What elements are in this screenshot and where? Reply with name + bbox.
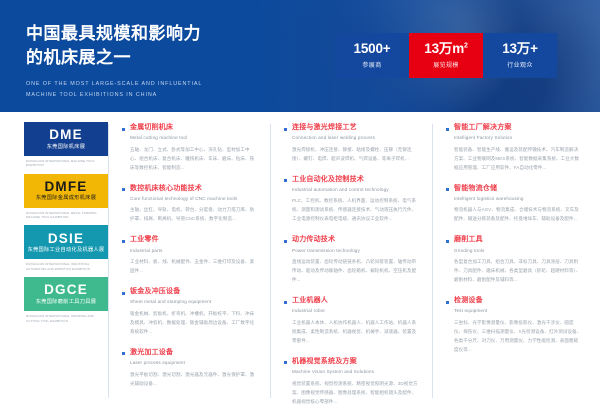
square-bullet-icon <box>446 188 449 191</box>
square-bullet-icon <box>122 240 125 243</box>
square-bullet-icon <box>446 240 449 243</box>
category-description: 各型复合加工刀具、组合刀具、非标刀具、刀具涂层、刀具附件、刀具配件、磨床机械、各… <box>454 257 582 284</box>
logo-abbreviation: DSIE <box>48 232 84 246</box>
logo-badge: DME东莞国际机床展 <box>24 122 108 156</box>
category-description: 视觉装置系统、视觉检测系统、精密视觉照明光源、3D视觉方案、图像视觉传感器、图像… <box>292 379 420 406</box>
stat-value: 13万+ <box>502 42 538 56</box>
category-item[interactable]: 连接与激光焊接工艺Connection and laser welding pr… <box>284 124 420 163</box>
category-item[interactable]: 动力传动技术Power transmission technology直线运动装… <box>284 236 420 284</box>
category-description: 五轴、龙门、立式、卧式等加工中心、深孔钻、型材加工中心、组合机床、复合机床、雕铣… <box>130 145 258 172</box>
logo-english-name: DONGGUAN INTERNATIONAL METAL FORMING MAC… <box>24 211 108 220</box>
category-title-en: Industrial automation and control techno… <box>292 187 420 193</box>
category-item[interactable]: 钣金及冲压设备Sheet metal and stamping equipmen… <box>122 288 258 336</box>
logo-abbreviation: DME <box>49 128 83 142</box>
category-title-cn: 机器视觉系统及方案 <box>292 358 420 367</box>
category-description: 主轴、丝杠、导轨、电机、转台、分度盘、动力刀塔刀库、防护罩、排屑、断屑机、导管C… <box>130 205 258 223</box>
category-title-en: Intelligent Factory Solution <box>454 135 582 141</box>
logo-card-dsie[interactable]: DSIE东莞国际工业自动化及机器人展DONGGUAN INTERNATIONAL… <box>24 225 108 271</box>
logo-chinese-name: 东莞国际金属成形机床展 <box>36 196 96 201</box>
stat-label: 展览规模 <box>433 60 459 69</box>
category-title-en: Test equipment <box>454 308 582 314</box>
logo-abbreviation: DGCE <box>44 283 88 297</box>
category-column-2: 连接与激光焊接工艺Connection and laser welding pr… <box>270 120 432 416</box>
category-title-cn: 工业机器人 <box>292 297 420 306</box>
category-column-3: 智能工厂解决方案Intelligent Factory Solution智能装备… <box>432 120 594 416</box>
statistics-row: 1500+参展商13万m2展览规模13万+行业观众 <box>335 33 557 78</box>
stat-label: 参展商 <box>362 60 381 69</box>
category-title-cn: 钣金及冲压设备 <box>130 288 258 297</box>
logo-english-name: DONGGUAN INTERNATIONAL MACHINE TOOL EXHI… <box>24 159 108 168</box>
category-title-en: Intelligent logistics warehousing <box>454 196 582 202</box>
logo-chinese-name: 东莞国际磨削工具刀具展 <box>36 300 96 305</box>
square-bullet-icon <box>122 188 125 191</box>
hero-banner: 中国最具规模和影响力 的机床展之一 ONE OF THE MOST LARGE-… <box>0 0 600 112</box>
square-bullet-icon <box>284 179 287 182</box>
category-title-cn: 磨削工具 <box>454 236 582 245</box>
category-title-cn: 激光加工设备 <box>130 349 258 358</box>
category-title-cn: 连接与激光焊接工艺 <box>292 124 420 133</box>
category-title-cn: 工业零件 <box>130 236 258 245</box>
category-description: 直线运动装置、齿轮传动链链条机、凸轮间歇装置、轴传动带传动、驱动及传动联轴件、齿… <box>292 257 420 284</box>
logo-english-name: DONGGUAN INTERNATIONAL INDUSTRIAL AUTOMA… <box>24 262 108 271</box>
square-bullet-icon <box>122 292 125 295</box>
stat-label: 行业观众 <box>507 60 533 69</box>
category-title-cn: 金属切削机床 <box>130 124 258 133</box>
square-bullet-icon <box>284 301 287 304</box>
category-description: 激光焊接机、冲压连接、铆接、粘接及螺栓、压铆（无铆连接）、螺钉、电焊、超声波焊机… <box>292 145 420 163</box>
hero-subtitle-line-1: ONE OF THE MOST LARGE-SCALE AND INFLUENT… <box>26 79 256 90</box>
hero-title-line-2: 的机床展之一 <box>26 46 256 70</box>
category-item[interactable]: 数控机床核心功能技术Core functional technology of … <box>122 185 258 224</box>
category-item[interactable]: 机器视觉系统及方案Machine Vision System and Solut… <box>284 358 420 406</box>
category-description: 智能装备、智能生产线、搬运及装配传输技术、汽车制造解决方案、工业物联网及MES系… <box>454 145 582 172</box>
logo-card-dmfe[interactable]: DMFE东莞国际金属成形机床展DONGGUAN INTERNATIONAL ME… <box>24 174 108 220</box>
category-description: 激光平板切割、激光切割、激光器及元器件、激光保护罩、激光辅助设备... <box>130 370 258 388</box>
category-title-en: Industrial robot <box>292 308 420 314</box>
square-bullet-icon <box>446 301 449 304</box>
hero-title-line-1: 中国最具规模和影响力 <box>26 22 256 46</box>
stat-value: 13万m2 <box>424 42 467 56</box>
stat-value-superscript: 2 <box>464 42 468 49</box>
stat-value: 1500+ <box>354 42 391 56</box>
category-title-cn: 智能工厂解决方案 <box>454 124 582 133</box>
category-description: 工业材料、板、线、机械配件、五金件、三维打印及设备、紧固件... <box>130 257 258 275</box>
category-description: 工业机器人本体、人机协作机器人、机器人工作站、机器人系统集成、柔性制造系统、机器… <box>292 318 420 345</box>
logo-badge: DMFE东莞国际金属成形机床展 <box>24 174 108 208</box>
hero-text-block: 中国最具规模和影响力 的机床展之一 ONE OF THE MOST LARGE-… <box>26 22 256 100</box>
promo-page: 中国最具规模和影响力 的机床展之一 ONE OF THE MOST LARGE-… <box>0 0 600 416</box>
category-description: 三坐标、光学影像测量仪、影像投影仪、激光干涉仪、圆度仪、探伤仪、三维扫描测量仪、… <box>454 318 582 354</box>
logo-chinese-name: 东莞国际机床展 <box>47 145 85 150</box>
category-title-en: Industrial parts <box>130 248 258 254</box>
hero-subtitle: ONE OF THE MOST LARGE-SCALE AND INFLUENT… <box>26 79 256 100</box>
hero-subtitle-line-2: MACHINE TOOL EXHIBITIONS IN CHINA <box>26 90 256 101</box>
category-title-cn: 检测设备 <box>454 297 582 306</box>
category-title-en: Grinding tools <box>454 248 582 254</box>
content-area: DME东莞国际机床展DONGGUAN INTERNATIONAL MACHINE… <box>0 112 600 416</box>
logo-abbreviation: DMFE <box>44 180 87 194</box>
category-title-en: Sheet metal and stamping equipment <box>130 299 258 305</box>
category-title-en: Laser process equipment <box>130 360 258 366</box>
category-title-en: Core functional technology of CNC machin… <box>130 196 258 202</box>
category-description: PLC、工控机、数控系统、人机界面、运动控制系统、电气系统、测量和测试系统、传感… <box>292 196 420 223</box>
stat-box-3: 13万+行业观众 <box>483 33 557 78</box>
category-item[interactable]: 金属切削机床Metal cutting machine tool五轴、龙门、立式… <box>122 124 258 172</box>
category-item[interactable]: 激光加工设备Laser process equipment激光平板切割、激光切割… <box>122 349 258 388</box>
category-item[interactable]: 智能工厂解决方案Intelligent Factory Solution智能装备… <box>446 124 582 172</box>
category-title-en: Connection and laser welding process <box>292 135 420 141</box>
category-item[interactable]: 工业零件Industrial parts工业材料、板、线、机械配件、五金件、三维… <box>122 236 258 275</box>
category-column-1: 金属切削机床Metal cutting machine tool五轴、龙门、立式… <box>108 120 270 416</box>
square-bullet-icon <box>284 240 287 243</box>
category-description: 物流机器人与AGV、物流集成、仓储技术与物流系统、叉车及配件、输送分拣装备及配件… <box>454 205 582 223</box>
square-bullet-icon <box>284 128 287 131</box>
category-item[interactable]: 磨削工具Grinding tools各型复合加工刀具、组合刀具、非标刀具、刀具涂… <box>446 236 582 284</box>
logo-chinese-name: 东莞国际工业自动化及机器人展 <box>28 248 105 253</box>
category-columns: 金属切削机床Metal cutting machine tool五轴、龙门、立式… <box>108 112 600 416</box>
category-item[interactable]: 检测设备Test equipment三坐标、光学影像测量仪、影像投影仪、激光干涉… <box>446 297 582 354</box>
category-title-en: Power transmission technology <box>292 248 420 254</box>
exhibition-logo-rail: DME东莞国际机床展DONGGUAN INTERNATIONAL MACHINE… <box>0 112 108 416</box>
category-title-en: Metal cutting machine tool <box>130 135 258 141</box>
stat-box-1: 1500+参展商 <box>335 33 409 78</box>
logo-badge: DGCE东莞国际磨削工具刀具展 <box>24 277 108 311</box>
category-title-cn: 动力传动技术 <box>292 236 420 245</box>
category-title-cn: 数控机床核心功能技术 <box>130 185 258 194</box>
logo-card-dgce[interactable]: DGCE东莞国际磨削工具刀具展DONGGUAN INTERNATIONAL GR… <box>24 277 108 323</box>
category-title-cn: 工业自动化及控制技术 <box>292 176 420 185</box>
category-description: 钣金机械、剪板机、折弯机、冲槽机、开板校平、下料、冲床及模具、冲剪机、数据处理、… <box>130 309 258 336</box>
category-item[interactable]: 工业自动化及控制技术Industrial automation and cont… <box>284 176 420 224</box>
square-bullet-icon <box>284 361 287 364</box>
hero-title: 中国最具规模和影响力 的机床展之一 <box>26 22 256 70</box>
stat-box-2: 13万m2展览规模 <box>409 33 483 78</box>
category-item[interactable]: 智能物流仓储Intelligent logistics warehousing物… <box>446 185 582 224</box>
category-title-cn: 智能物流仓储 <box>454 185 582 194</box>
logo-badge: DSIE东莞国际工业自动化及机器人展 <box>24 225 108 259</box>
logo-card-dme[interactable]: DME东莞国际机床展DONGGUAN INTERNATIONAL MACHINE… <box>24 122 108 168</box>
square-bullet-icon <box>446 128 449 131</box>
category-item[interactable]: 工业机器人Industrial robot工业机器人本体、人机协作机器人、机器人… <box>284 297 420 345</box>
category-title-en: Machine Vision System and Solutions <box>292 369 420 375</box>
square-bullet-icon <box>122 352 125 355</box>
square-bullet-icon <box>122 128 125 131</box>
logo-english-name: DONGGUAN INTERNATIONAL GRINDING AND CUTT… <box>24 314 108 323</box>
